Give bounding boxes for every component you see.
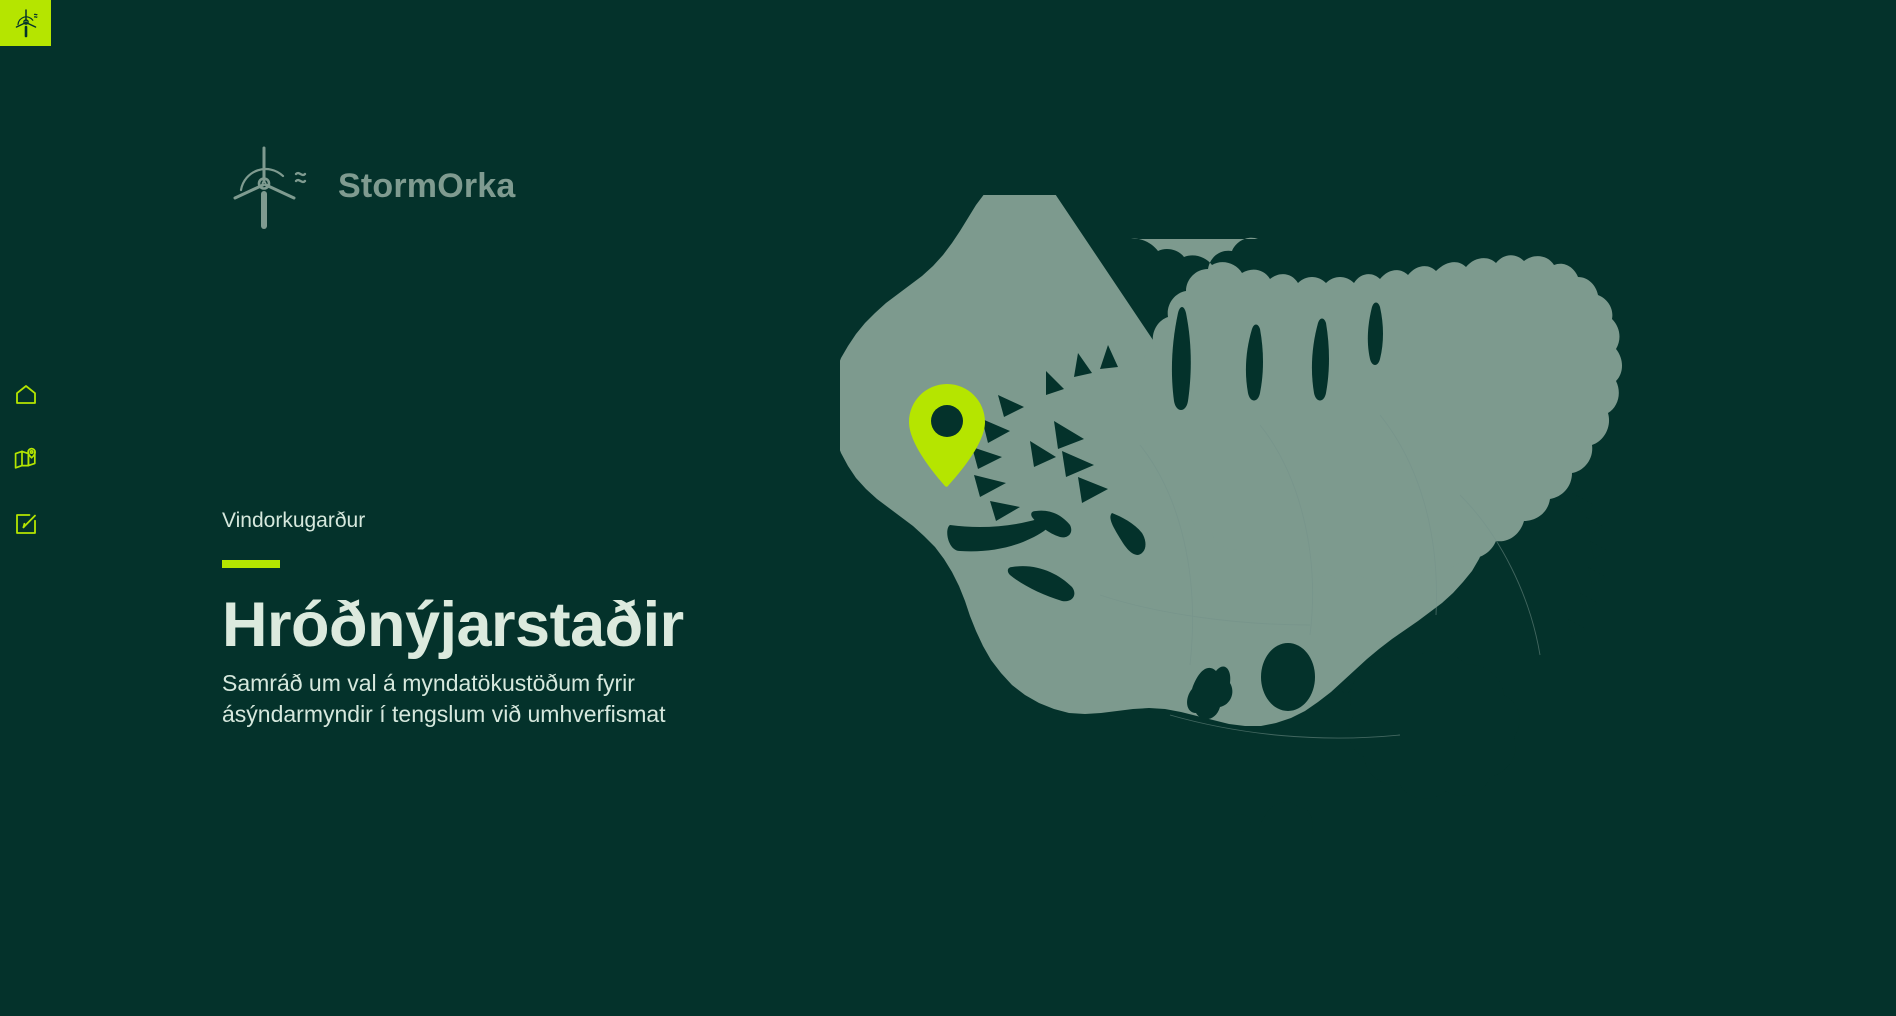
sidebar-item-map[interactable] — [7, 440, 45, 478]
wind-turbine-icon — [10, 7, 42, 39]
sidebar-rail — [0, 0, 52, 918]
page-title: Hróðnýjarstaðir — [222, 592, 842, 658]
brand-tile[interactable] — [0, 0, 51, 46]
accent-rule — [222, 560, 280, 568]
logo-lockup[interactable]: StormOrka — [222, 138, 516, 234]
sidebar-item-edit[interactable] — [7, 505, 45, 543]
logo-wordmark: StormOrka — [338, 167, 516, 206]
map-pin-icon — [13, 446, 39, 472]
hero-eyebrow: Vindorkugarður — [222, 508, 842, 533]
hero-section: Vindorkugarður Hróðnýjarstaðir Samráð um… — [222, 508, 842, 729]
wind-turbine-waves-icon — [222, 138, 318, 234]
edit-square-icon — [13, 511, 39, 537]
iceland-detail — [840, 195, 1670, 835]
iceland-map[interactable] — [840, 195, 1670, 835]
home-icon — [13, 382, 39, 408]
sidebar-item-home[interactable] — [7, 376, 45, 414]
hero-subtitle: Samráð um val á myndatökustöðum fyrir ás… — [222, 668, 752, 729]
